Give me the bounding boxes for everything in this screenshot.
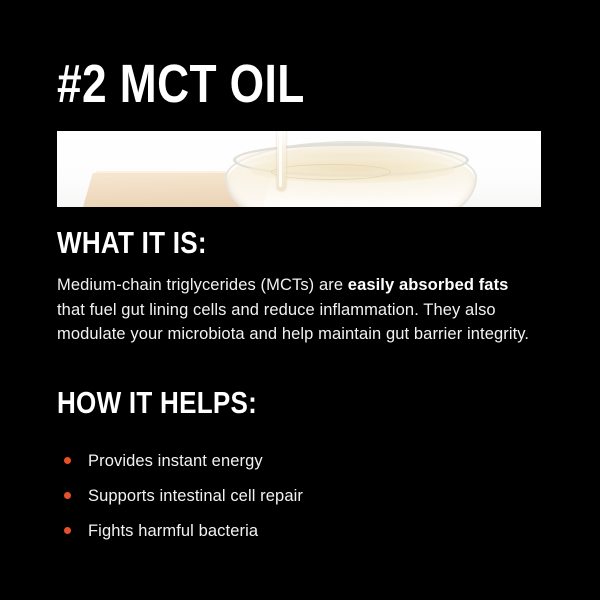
list-item: Supports intestinal cell repair (57, 478, 517, 513)
section-heading-what-it-is: WHAT IT IS: (57, 226, 207, 260)
page-title: #2 MCT OIL (57, 55, 305, 113)
hero-image (57, 131, 541, 207)
benefits-list: Provides instant energy Supports intesti… (57, 443, 517, 548)
what-it-is-paragraph: Medium-chain triglycerides (MCTs) are ea… (57, 273, 537, 347)
bullet-dot-icon (64, 527, 71, 534)
bullet-dot-icon (64, 492, 71, 499)
list-item: Fights harmful bacteria (57, 513, 517, 548)
list-item: Provides instant energy (57, 443, 517, 478)
oil-stream-highlight-icon (279, 131, 282, 187)
oil-ripple-icon (271, 164, 391, 180)
list-item-label: Fights harmful bacteria (88, 521, 258, 541)
paragraph-part-2-bold: easily absorbed fats (348, 276, 509, 294)
list-item-label: Provides instant energy (88, 451, 263, 471)
infographic-card: #2 MCT OIL WHAT IT IS: Medium-chain trig… (0, 0, 600, 600)
section-heading-how-it-helps: HOW IT HELPS: (57, 386, 257, 420)
list-item-label: Supports intestinal cell repair (88, 486, 303, 506)
paragraph-part-3: that fuel gut lining cells and reduce in… (57, 301, 529, 344)
bullet-dot-icon (64, 457, 71, 464)
paragraph-part-1: Medium-chain triglycerides (MCTs) are (57, 276, 348, 294)
